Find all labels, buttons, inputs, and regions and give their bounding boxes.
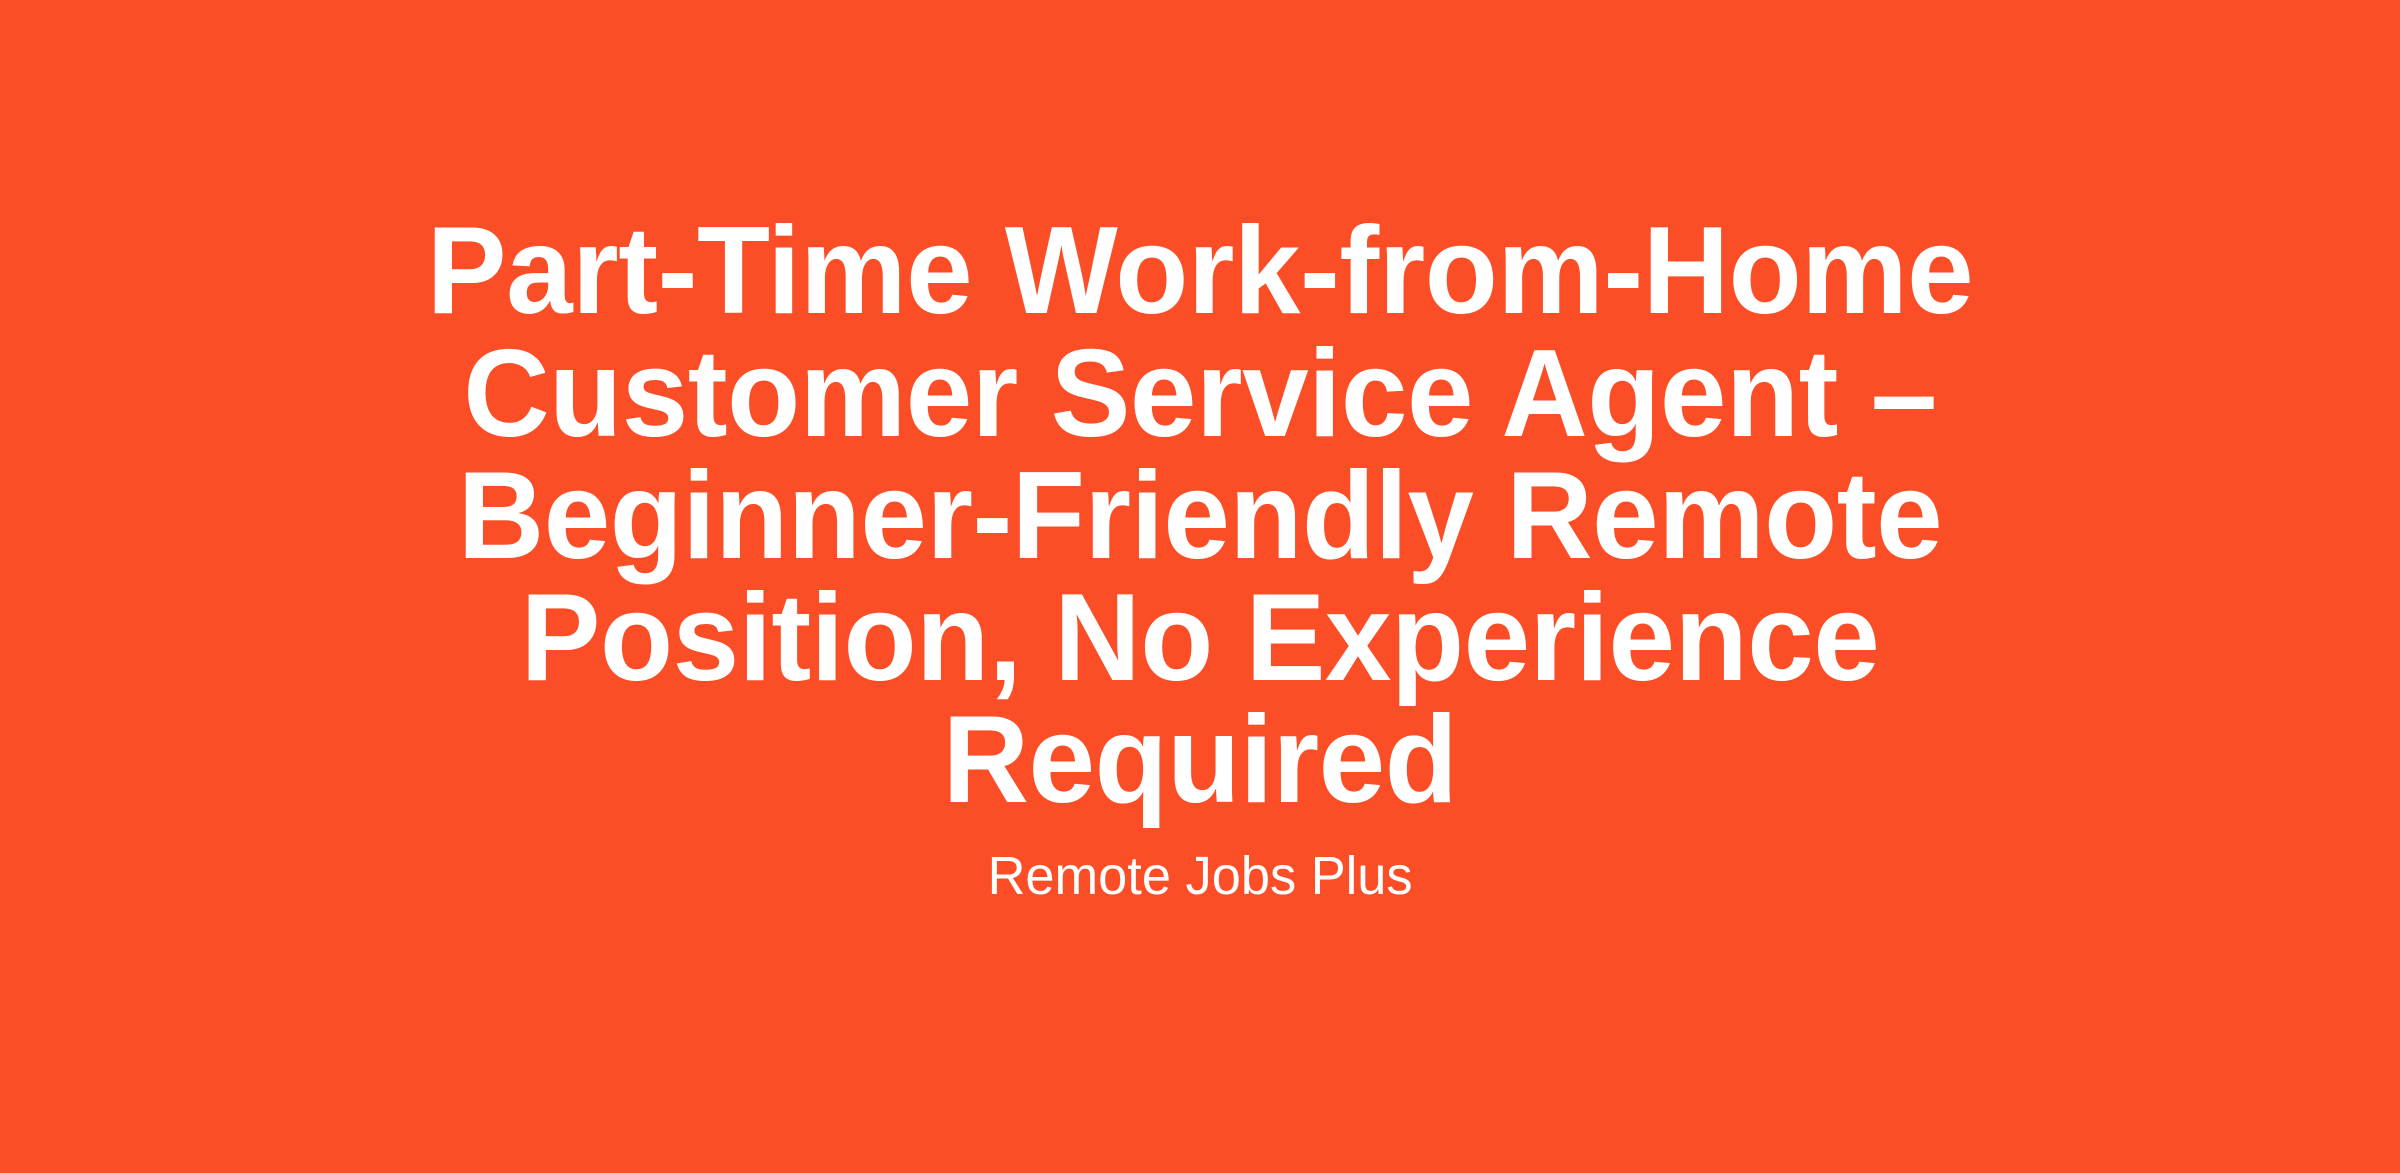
page-title: Part-Time Work-from-Home Customer Servic…: [399, 210, 2001, 821]
share-card: Part-Time Work-from-Home Customer Servic…: [0, 0, 2400, 1173]
site-name: Remote Jobs Plus: [987, 847, 1412, 906]
card-content-block: Part-Time Work-from-Home Customer Servic…: [370, 210, 2030, 906]
